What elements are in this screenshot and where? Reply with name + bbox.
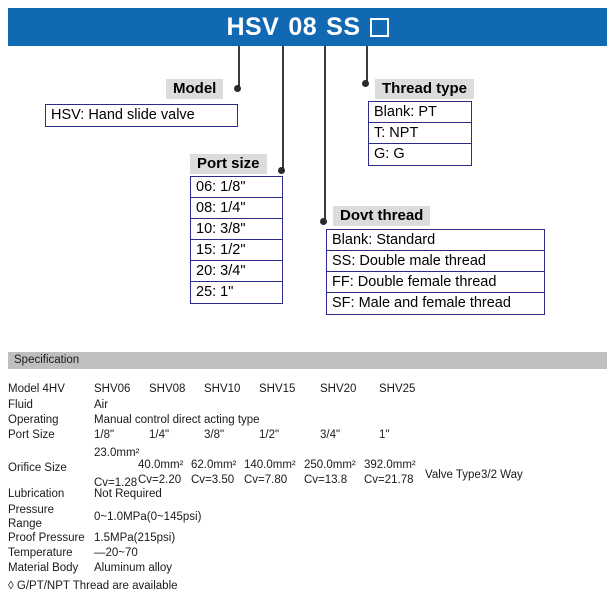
spec-value-valve-type: 3/2 Way xyxy=(481,469,523,482)
spec-orifice-cv-2: Cv=3.50 xyxy=(191,474,234,487)
spec-label-fluid: Fluid xyxy=(8,398,92,412)
spec-value-pressure-range: 0~1.0MPa(0~145psi) xyxy=(94,510,201,524)
spec-orifice-cv-5: Cv=21.78 xyxy=(364,474,414,487)
callout-title-dovt-thread: Dovt thread xyxy=(333,206,430,226)
callout-row-port-size-4: 20: 3/4" xyxy=(191,261,282,282)
callout-title-model: Model xyxy=(166,79,223,99)
spec-row-operating: Operating Manual control direct acting t… xyxy=(8,413,608,428)
spec-value-operating: Manual control direct acting type xyxy=(94,413,260,427)
spec-port-size-3: 1/2" xyxy=(259,428,279,442)
spec-orifice-area-5: 392.0mm² xyxy=(364,459,416,472)
empty-square-icon xyxy=(370,18,389,37)
spec-orifice-area-4: 250.0mm² xyxy=(304,459,356,472)
code-segment-port-size: 08 xyxy=(288,13,317,42)
spec-value-fluid: Air xyxy=(94,398,108,412)
spec-label-orifice-size: Orifice Size xyxy=(8,461,92,475)
callout-row-port-size-5: 25: 1" xyxy=(191,282,282,303)
leader-line-port-size xyxy=(282,46,284,170)
spec-value-lubrication: Not Required xyxy=(94,487,162,501)
leader-line-dovt-thread xyxy=(324,46,326,221)
callout-row-port-size-2: 10: 3/8" xyxy=(191,219,282,240)
callout-row-dovt-thread-2: FF: Double female thread xyxy=(327,272,544,293)
spec-label-temperature: Temperature xyxy=(8,546,92,560)
leader-line-thread-type xyxy=(366,46,368,83)
spec-port-size-1: 1/4" xyxy=(149,428,169,442)
spec-orifice-area-0: 23.0mm² xyxy=(94,447,138,459)
callout-title-thread-type: Thread type xyxy=(375,79,474,99)
callout-row-thread-type-0: Blank: PT xyxy=(369,102,471,123)
spec-label-valve-type: Valve Type xyxy=(425,469,481,482)
spec-port-size-4: 3/4" xyxy=(320,428,340,442)
spec-row-orifice-size: Orifice Size 23.0mm² Cv=1.28 40.0mm² 62.… xyxy=(8,445,608,487)
spec-label-proof-pressure: Proof Pressure xyxy=(8,531,92,545)
product-code-text: HSV 08 SS xyxy=(8,8,607,46)
spec-label-operating: Operating xyxy=(8,413,92,427)
spec-footnote: ◊ G/PT/NPT Thread are available xyxy=(8,580,178,592)
callout-row-thread-type-1: T: NPT xyxy=(369,123,471,144)
leader-dot-thread-type xyxy=(362,80,369,87)
spec-label-material-body: Material Body xyxy=(8,561,92,575)
callout-row-dovt-thread-1: SS: Double male thread xyxy=(327,251,544,272)
leader-line-model xyxy=(238,46,240,88)
spec-value-proof-pressure: 1.5MPa(215psi) xyxy=(94,531,175,545)
code-segment-model: HSV xyxy=(226,13,279,42)
callout-box-port-size: 06: 1/8" 08: 1/4" 10: 3/8" 15: 1/2" 20: … xyxy=(190,176,283,304)
code-segment-dovt-thread: SS xyxy=(326,13,360,42)
spec-model-0: SHV06 xyxy=(94,382,130,396)
spec-model-4: SHV20 xyxy=(320,382,356,396)
spec-port-size-2: 3/8" xyxy=(204,428,224,442)
callout-row-model-0: HSV: Hand slide valve xyxy=(46,105,237,126)
spec-row-port-size: Port Size 1/8" 1/4" 3/8" 1/2" 3/4" 1" xyxy=(8,428,608,445)
spec-orifice-cv-4: Cv=13.8 xyxy=(304,474,347,487)
spec-model-5: SHV25 xyxy=(379,382,415,396)
specification-heading: Specification xyxy=(8,352,607,369)
spec-model-3: SHV15 xyxy=(259,382,295,396)
callout-box-thread-type: Blank: PT T: NPT G: G xyxy=(368,101,472,166)
spec-port-size-5: 1" xyxy=(379,428,389,442)
spec-value-material-body: Aluminum alloy xyxy=(94,561,172,575)
spec-orifice-area-3: 140.0mm² xyxy=(244,459,296,472)
leader-dot-dovt-thread xyxy=(320,218,327,225)
spec-value-temperature: —20~70 xyxy=(94,546,138,560)
spec-model-2: SHV10 xyxy=(204,382,240,396)
spec-row-temperature: Temperature —20~70 xyxy=(8,546,608,561)
callout-row-port-size-1: 08: 1/4" xyxy=(191,198,282,219)
spec-orifice-area-1: 40.0mm² xyxy=(138,459,183,472)
callout-row-dovt-thread-3: SF: Male and female thread xyxy=(327,293,544,314)
spec-orifice-cv-1: Cv=2.20 xyxy=(138,474,181,487)
spec-row-proof-pressure: Proof Pressure 1.5MPa(215psi) xyxy=(8,531,608,546)
product-code-banner: HSV 08 SS xyxy=(8,8,607,46)
spec-orifice-cv-3: Cv=7.80 xyxy=(244,474,287,487)
spec-label-model: Model 4HV xyxy=(8,382,92,396)
spec-label-lubrication: Lubrication xyxy=(8,487,92,501)
spec-row-model: Model 4HV SHV06 SHV08 SHV10 SHV15 SHV20 … xyxy=(8,382,608,398)
callout-row-dovt-thread-0: Blank: Standard xyxy=(327,230,544,251)
spec-port-size-0: 1/8" xyxy=(94,428,114,442)
callout-row-thread-type-2: G: G xyxy=(369,144,471,165)
callout-title-port-size: Port size xyxy=(190,154,267,174)
leader-dot-port-size xyxy=(278,167,285,174)
spec-row-pressure-range: Pressure Range 0~1.0MPa(0~145psi) xyxy=(8,503,608,531)
product-code-spec-sheet: HSV 08 SS Model HSV: Hand slide valve Po… xyxy=(0,0,615,606)
spec-label-pressure-range: Pressure Range xyxy=(8,503,92,531)
spec-label-port-size: Port Size xyxy=(8,428,92,442)
callout-row-port-size-3: 15: 1/2" xyxy=(191,240,282,261)
spec-row-fluid: Fluid Air xyxy=(8,398,608,413)
callout-box-model: HSV: Hand slide valve xyxy=(45,104,238,127)
spec-row-lubrication: Lubrication Not Required xyxy=(8,487,608,503)
leader-dot-model xyxy=(234,85,241,92)
spec-row-material-body: Material Body Aluminum alloy xyxy=(8,561,608,576)
spec-model-1: SHV08 xyxy=(149,382,185,396)
callout-row-port-size-0: 06: 1/8" xyxy=(191,177,282,198)
callout-box-dovt-thread: Blank: Standard SS: Double male thread F… xyxy=(326,229,545,315)
specification-table: Model 4HV SHV06 SHV08 SHV10 SHV15 SHV20 … xyxy=(8,382,608,576)
spec-orifice-area-2: 62.0mm² xyxy=(191,459,236,472)
